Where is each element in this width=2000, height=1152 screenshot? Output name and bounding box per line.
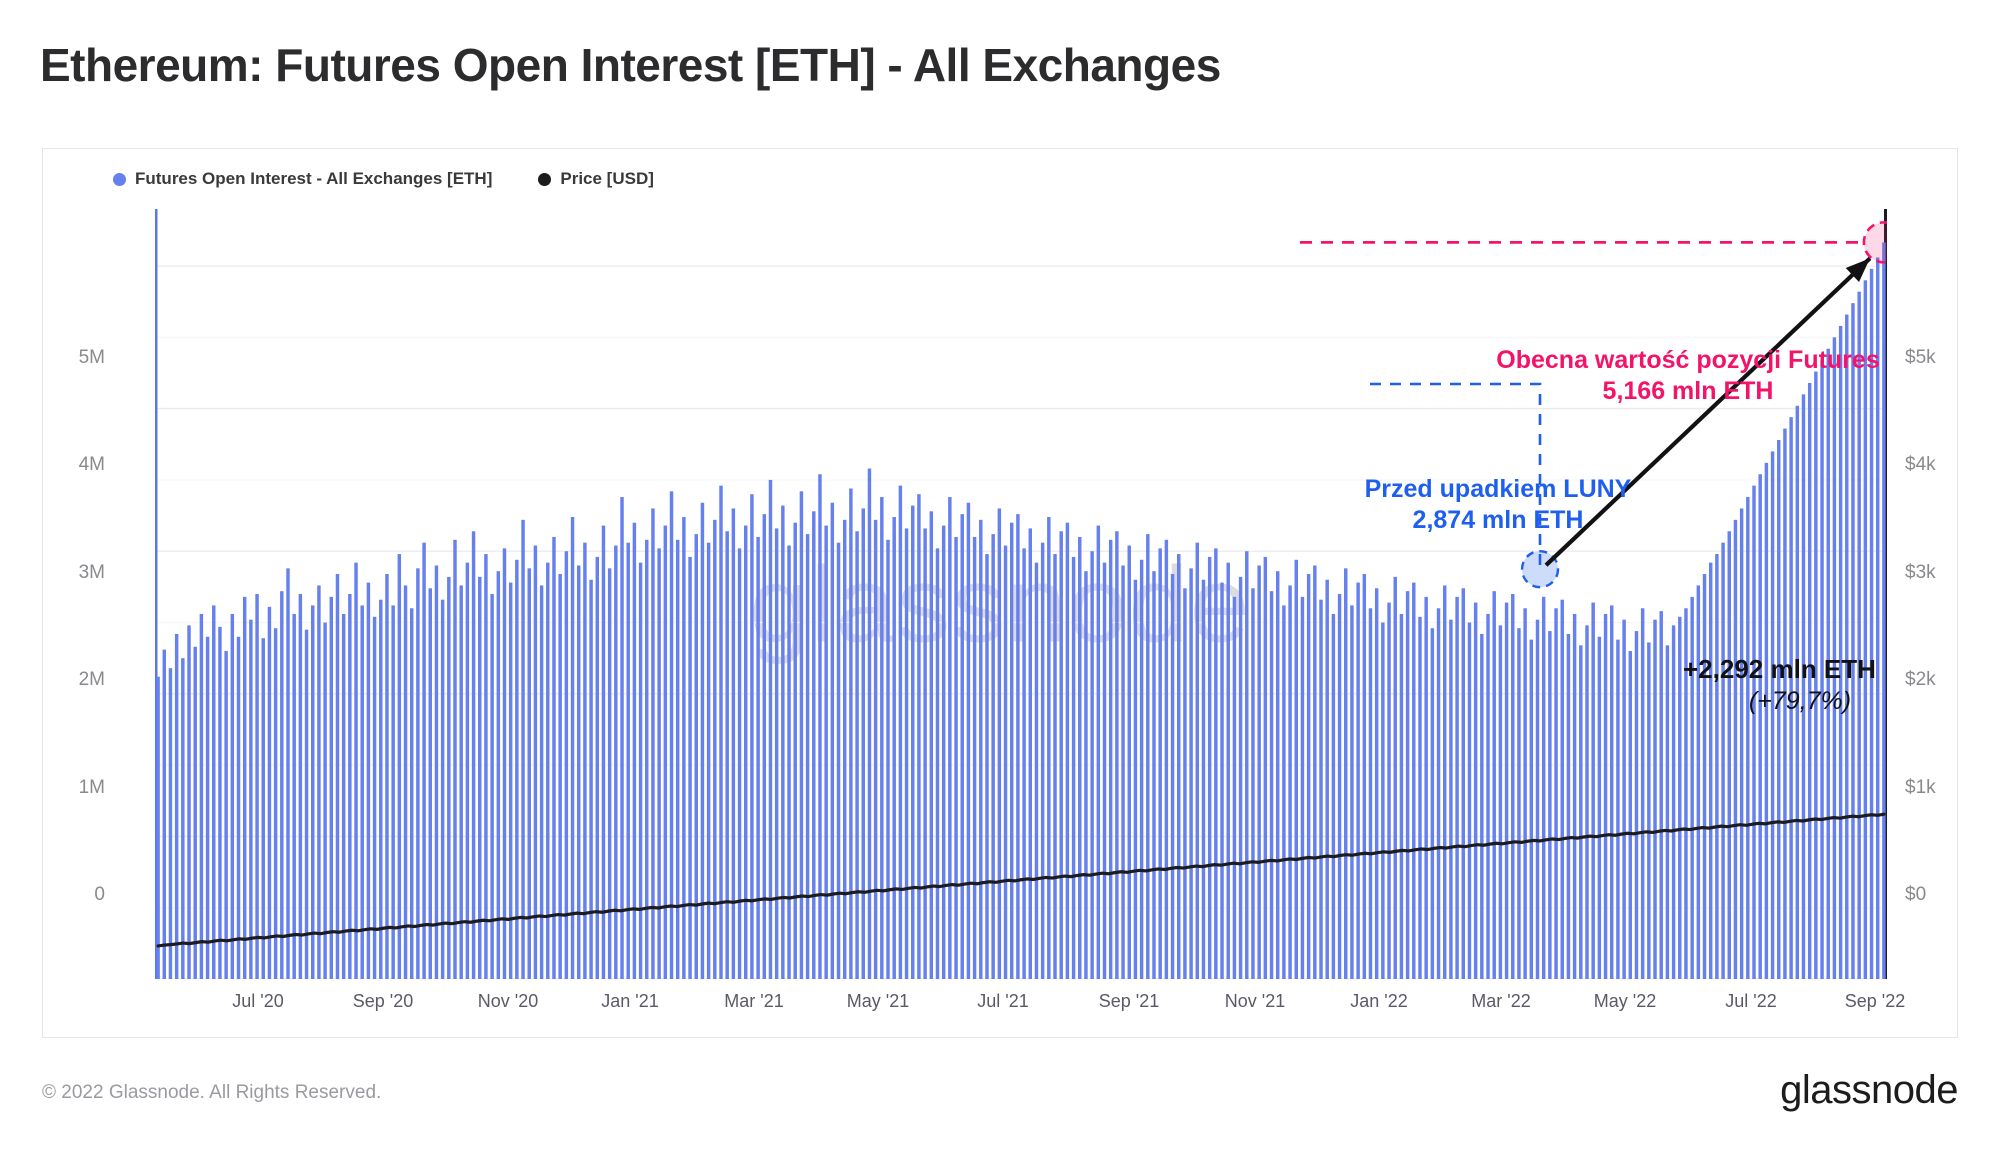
bar [725,531,728,979]
bar [385,574,388,979]
bar [1746,497,1749,979]
bar [818,474,821,979]
bar [1319,600,1322,979]
black-dot-icon [538,173,551,186]
bar [1350,605,1353,979]
x-axis-tick-11: May '22 [1594,991,1656,1012]
bar [1084,571,1087,979]
x-axis-tick-7: Sep '21 [1099,991,1160,1012]
bar [886,540,889,979]
x-axis-tick-13: Sep '22 [1845,991,1906,1012]
bar [268,607,271,979]
bar [1233,597,1236,979]
bar [1196,543,1199,979]
annotation-delta-absolute: +2,292 mln ETH [1683,654,1943,686]
bar [503,548,506,979]
bar [534,546,537,979]
bar [1523,608,1526,979]
bar [1455,597,1458,979]
legend-label-open-interest: Futures Open Interest - All Exchanges [E… [135,169,492,189]
bar [1480,634,1483,979]
glassnode-logo: glassnode [1780,1068,1958,1113]
bar [1635,631,1638,979]
bar [1659,611,1662,979]
y-axis-left-tick-4m: 4M [79,454,105,476]
bar [1604,614,1607,979]
bar [682,517,685,979]
bar [156,677,159,979]
bar [1066,523,1069,979]
bar [1264,557,1267,979]
bar [781,506,784,979]
bar [1202,580,1205,979]
bar [330,597,333,979]
bar [1758,474,1761,979]
bar [1517,628,1520,979]
bar [942,526,945,979]
bar [1307,574,1310,979]
bar [1585,625,1588,979]
bar [917,494,920,979]
bar [1134,580,1137,979]
bar [676,540,679,979]
bar [979,520,982,979]
x-axis-tick-8: Nov '21 [1225,991,1285,1012]
bar [1709,563,1712,979]
bar [626,543,629,979]
bar [1499,625,1502,979]
bar [961,514,964,979]
bar [620,497,623,979]
bar [732,508,735,979]
bar [688,557,691,979]
bar [1387,603,1390,979]
x-axis-tick-1: Sep '20 [353,991,414,1012]
bar [1041,543,1044,979]
bar [1177,554,1180,979]
bar [1369,608,1372,979]
bar [967,503,970,979]
bar [837,543,840,979]
bar [806,534,809,979]
bar [1765,463,1768,979]
bar [713,520,716,979]
x-axis-tick-12: Jul '22 [1725,991,1776,1012]
bar [1047,517,1050,979]
bar [540,585,543,979]
bar [1573,614,1576,979]
bar [373,617,376,979]
bar [769,480,772,979]
bar [1189,568,1192,979]
bar [1344,568,1347,979]
annotation-current-futures-line1: Obecna wartość pozycji Futures [1453,345,1923,376]
bar [558,574,561,979]
bar [231,614,234,979]
bar [1214,548,1217,979]
y-axis-left-tick-3m: 3M [79,562,105,584]
bar [1672,625,1675,979]
annotation-delta: +2,292 mln ETH (+79,7%) [1683,654,1943,716]
bar [1325,580,1328,979]
bar [1053,554,1056,979]
bar [954,537,957,979]
bar [577,565,580,979]
bar [849,488,852,979]
chart-panel: Futures Open Interest - All Exchanges [E… [42,148,1958,1038]
bar [1511,594,1514,979]
bar [422,543,425,979]
bar [1703,574,1706,979]
page-title: Ethereum: Futures Open Interest [ETH] - … [40,38,1221,92]
bar [1121,565,1124,979]
bar [459,585,462,979]
bar [1356,583,1359,979]
bar [1394,577,1397,979]
bar [892,517,895,979]
bar [447,577,450,979]
bar [1072,557,1075,979]
bar [793,523,796,979]
bar [1845,315,1848,979]
bar [478,577,481,979]
bar [280,591,283,979]
bar [1078,537,1081,979]
bar [1276,571,1279,979]
bar [515,560,518,979]
bar [1115,531,1118,979]
bar [589,580,592,979]
bar [911,506,914,979]
bar [880,497,883,979]
bar [1171,574,1174,979]
bar [305,630,308,979]
bar [311,605,314,979]
bar [930,511,933,979]
bar [391,605,394,979]
bar [1220,583,1223,979]
bar [1251,588,1254,979]
bar [367,583,370,979]
bar [1697,585,1700,979]
bar [1629,651,1632,979]
bar [948,497,951,979]
bar [175,634,178,979]
bar [1715,554,1718,979]
bar [163,650,166,979]
legend-label-price: Price [USD] [560,169,654,189]
bar [1468,623,1471,979]
x-axis-tick-5: May '21 [847,991,909,1012]
bar [1530,640,1533,979]
bar [905,528,908,979]
bar [484,554,487,979]
bar [521,520,524,979]
bar [608,568,611,979]
y-axis-right-tick-0: $0 [1905,884,1926,906]
bar [744,526,747,979]
bar [614,546,617,979]
bar [1146,534,1149,979]
annotation-current-futures: Obecna wartość pozycji Futures 5,166 mln… [1453,345,1923,406]
bar [1288,585,1291,979]
bar [274,628,277,979]
bar [206,637,209,979]
x-axis-tick-6: Jul '21 [977,991,1028,1012]
bar [323,623,326,979]
bar [843,520,846,979]
bar [596,557,599,979]
bar [435,565,438,979]
annotation-delta-percent: (+79,7%) [1683,686,1943,717]
bar [249,620,252,979]
bar [1010,523,1013,979]
bar [243,597,246,979]
bar [193,647,196,979]
bar [398,554,401,979]
bar [255,594,258,979]
bar [218,627,221,979]
bar [695,534,698,979]
bar [1140,560,1143,979]
bar [404,585,407,979]
bar [1301,597,1304,979]
bar [701,503,704,979]
bar [973,537,976,979]
y-axis-left-tick-1m: 1M [79,777,105,799]
bar [1109,540,1112,979]
bar [348,594,351,979]
bar [1103,563,1106,979]
bar [1554,608,1557,979]
legend-item-price[interactable]: Price [USD] [538,169,654,189]
bar [1029,528,1032,979]
bar [923,528,926,979]
x-axis-tick-0: Jul '20 [232,991,283,1012]
bar [664,526,667,979]
bar [354,563,357,979]
bar [1641,608,1644,979]
bar [750,494,753,979]
bar [429,588,432,979]
bar [1462,588,1465,979]
bar [936,548,939,979]
bar [998,508,1001,979]
bar [336,574,339,979]
bar [200,614,203,979]
bar [1678,617,1681,979]
bar [169,668,172,979]
bar [862,508,865,979]
bar [1152,571,1155,979]
bar [719,486,722,979]
bar [1548,631,1551,979]
bar [1257,565,1260,979]
bar [1721,543,1724,979]
bar [645,540,648,979]
bar [1282,605,1285,979]
legend-item-open-interest[interactable]: Futures Open Interest - All Exchanges [E… [113,169,492,189]
bar [812,511,815,979]
bar [1400,614,1403,979]
bar [237,637,240,979]
bar [1622,620,1625,979]
bar [1536,620,1539,979]
y-axis-right-tick-1k: $1k [1905,777,1936,799]
bar [775,528,778,979]
bar [1647,642,1650,979]
bar [466,563,469,979]
bar [1128,546,1131,979]
bar [1016,514,1019,979]
bar [1412,583,1415,979]
bar [292,614,295,979]
y-axis-left-tick-2m: 2M [79,669,105,691]
bar [855,531,858,979]
bar [1492,591,1495,979]
bar [1165,540,1168,979]
bar [1839,326,1842,979]
bar [1022,548,1025,979]
bar [800,491,803,979]
bar [1035,563,1038,979]
bar [1449,620,1452,979]
y-axis-left-tick-0: 0 [94,884,105,906]
chart-canvas[interactable] [155,209,1887,979]
bar [657,548,660,979]
bar [342,614,345,979]
bar [1004,546,1007,979]
bar [1090,551,1093,979]
bar [1567,634,1570,979]
bar [1406,591,1409,979]
bar [756,537,759,979]
bar [1666,645,1669,979]
y-axis-right-tick-4k: $4k [1905,454,1936,476]
bar [1059,531,1062,979]
bar [317,585,320,979]
bar [1270,591,1273,979]
bar [299,594,302,979]
bar [1424,597,1427,979]
bar [1437,608,1440,979]
bar [453,540,456,979]
bar [1332,614,1335,979]
bar [1208,557,1211,979]
bar [1591,603,1594,979]
bar [1610,605,1613,979]
bar [874,520,877,979]
bar [1740,508,1743,979]
bar [1158,548,1161,979]
bar [571,517,574,979]
bar [991,534,994,979]
bar [707,543,710,979]
bar [212,605,215,979]
bar [1183,588,1186,979]
bar [1375,588,1378,979]
bar [787,546,790,979]
x-axis-tick-10: Mar '22 [1471,991,1530,1012]
bar [1653,620,1656,979]
x-axis-tick-9: Jan '22 [1350,991,1407,1012]
bar [1313,565,1316,979]
bar [187,625,190,979]
bar [1598,637,1601,979]
bar [985,554,988,979]
bar [868,469,871,979]
bar [639,563,642,979]
bar [738,548,741,979]
bar [1226,563,1229,979]
blue-dot-icon [113,173,126,186]
bar [379,600,382,979]
bar [1542,597,1545,979]
bar [1363,574,1366,979]
bar [224,651,227,979]
bar [1734,520,1737,979]
y-axis-right-tick-3k: $3k [1905,562,1936,584]
annotation-pre-luna-line1: Przed upadkiem LUNY [1323,474,1673,505]
annotation-pre-luna-line2: 2,874 mln ETH [1323,505,1673,536]
bar [1728,531,1731,979]
annotation-pre-luna: Przed upadkiem LUNY 2,874 mln ETH [1323,474,1673,535]
bar [1381,623,1384,979]
bar [472,531,475,979]
bar [824,526,827,979]
bar [262,638,265,979]
bar [1616,640,1619,979]
bar [1097,526,1100,979]
bar [1561,600,1564,979]
gridlines [155,209,1887,979]
bar [1579,645,1582,979]
bar [1486,614,1489,979]
bar [831,503,834,979]
annotation-current-futures-line2: 5,166 mln ETH [1453,376,1923,407]
bar [416,568,419,979]
bar [1418,617,1421,979]
bar [410,608,413,979]
bar [763,514,766,979]
chart-page: Ethereum: Futures Open Interest [ETH] - … [0,0,2000,1152]
bar [1431,628,1434,979]
bar [1338,594,1341,979]
bar [1443,585,1446,979]
x-axis-tick-4: Mar '21 [724,991,783,1012]
bar [286,568,289,979]
bar [552,537,555,979]
bar [360,605,363,979]
bar [1505,603,1508,979]
x-axis-tick-2: Nov '20 [478,991,538,1012]
bar [1245,551,1248,979]
bar [181,658,184,979]
x-axis-tick-3: Jan '21 [601,991,658,1012]
bar [1239,577,1242,979]
copyright-text: © 2022 Glassnode. All Rights Reserved. [42,1082,381,1104]
chart-legend: Futures Open Interest - All Exchanges [E… [113,169,654,189]
bar [1752,486,1755,979]
plot-area [155,209,1887,979]
bar [1474,603,1477,979]
y-axis-left-tick-5m: 5M [79,347,105,369]
bar [1295,560,1298,979]
bar [899,486,902,979]
